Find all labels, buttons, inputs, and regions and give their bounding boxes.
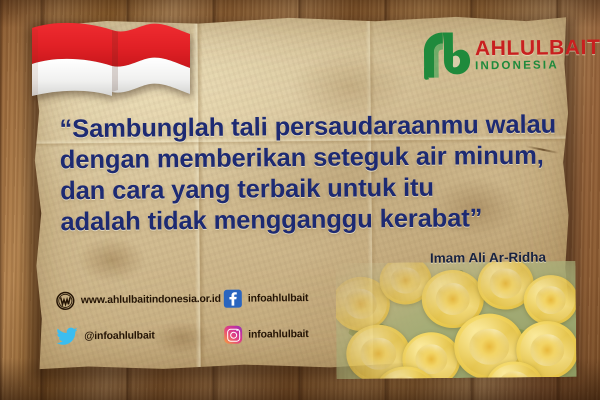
contact-website[interactable]: www.ahlulbaitindonesia.or.id [56,289,224,310]
ahlulbait-monogram-icon [420,29,470,81]
contact-instagram[interactable]: infoahlulbait [224,324,384,344]
quote-line-4: adalah tidak mengganggu kerabat” [60,203,540,239]
instagram-icon [224,326,242,344]
contact-twitter[interactable]: @infoahlulbait [56,326,224,346]
facebook-icon [224,290,242,308]
instagram-label: infoahlulbait [248,328,309,341]
yellow-roses-image [335,261,576,379]
wordpress-icon [56,291,75,310]
contact-block: www.ahlulbaitindonesia.or.id infoahlulba… [56,285,357,350]
indonesia-flag [26,18,194,100]
quote-line-3: dan cara yang terbaik untuk itu [60,172,540,208]
logo-title: AHLULBAIT [475,37,600,59]
quote-line-2: dengan memberikan seteguk air minum, [60,141,540,177]
quote-block: “Sambunglah tali persaudaraanmu walau de… [59,110,540,239]
facebook-label: infoahlulbait [248,292,309,305]
quote-poster: AHLULBAIT INDONESIA “Sambunglah tali per… [0,0,600,400]
rose [524,275,577,326]
quote-line-1: “Sambunglah tali persaudaraanmu walau [59,110,539,146]
logo-subtitle: INDONESIA [475,60,600,73]
website-label: www.ahlulbaitindonesia.or.id [81,293,221,306]
contact-facebook[interactable]: infoahlulbait [224,288,384,308]
twitter-icon [56,327,78,345]
logo-wordmark: AHLULBAIT INDONESIA [475,37,600,73]
ahlulbait-logo: AHLULBAIT INDONESIA [420,25,581,85]
twitter-label: @infoahlulbait [84,329,155,342]
quote-attribution: Imam Ali Ar-Ridha [430,249,590,266]
